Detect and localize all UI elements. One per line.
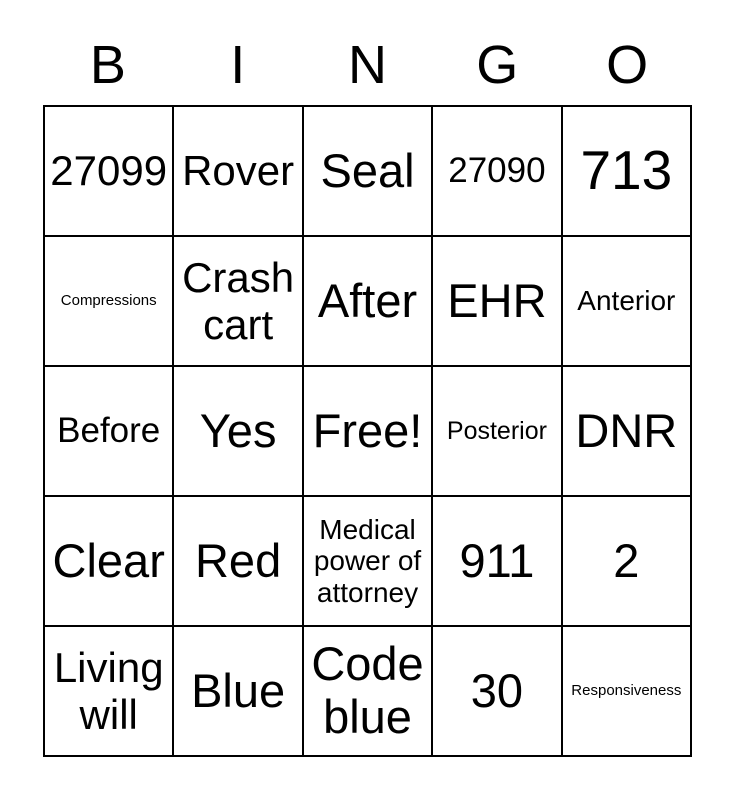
- bingo-cell-label: EHR: [436, 275, 557, 328]
- bingo-header-letter-b: B: [43, 28, 173, 102]
- bingo-cell[interactable]: Yes: [174, 367, 303, 497]
- bingo-cell[interactable]: Blue: [174, 627, 303, 757]
- bingo-cell-label: Clear: [48, 535, 169, 588]
- bingo-cell-label: Yes: [177, 405, 298, 458]
- bingo-cell-label: Free!: [307, 405, 428, 458]
- bingo-cell[interactable]: After: [304, 237, 433, 367]
- bingo-cell[interactable]: 27090: [433, 107, 562, 237]
- bingo-cell-label: 30: [436, 665, 557, 718]
- bingo-cell-label: 911: [436, 535, 557, 588]
- bingo-cell-label: DNR: [566, 405, 687, 458]
- bingo-header-letter-i: I: [173, 28, 303, 102]
- bingo-row: Clear Red Medical power of attorney 911 …: [45, 497, 692, 627]
- bingo-cell[interactable]: 911: [433, 497, 562, 627]
- bingo-cell-label: Red: [177, 535, 298, 588]
- bingo-cell-label: Rover: [177, 147, 298, 194]
- bingo-cell-label: 27090: [436, 151, 557, 190]
- bingo-cell-label: Before: [48, 411, 169, 450]
- bingo-grid: 27099 Rover Seal 27090 713 Compressions …: [43, 105, 692, 757]
- bingo-cell[interactable]: Posterior: [433, 367, 562, 497]
- bingo-cell[interactable]: 27099: [45, 107, 174, 237]
- bingo-cell-free-space[interactable]: Free!: [304, 367, 433, 497]
- bingo-header-row: B I N G O: [43, 28, 692, 102]
- bingo-header-letter-n: N: [303, 28, 433, 102]
- bingo-cell-label: 2: [566, 535, 687, 588]
- bingo-row: 27099 Rover Seal 27090 713: [45, 107, 692, 237]
- bingo-cell-label: Medical power of attorney: [307, 514, 428, 608]
- bingo-cell[interactable]: Before: [45, 367, 174, 497]
- bingo-cell-label: 27099: [48, 147, 169, 194]
- bingo-cell[interactable]: Medical power of attorney: [304, 497, 433, 627]
- bingo-cell[interactable]: 30: [433, 627, 562, 757]
- bingo-cell[interactable]: Seal: [304, 107, 433, 237]
- bingo-cell[interactable]: Crash cart: [174, 237, 303, 367]
- bingo-cell-label: 713: [566, 140, 687, 202]
- bingo-cell[interactable]: Rover: [174, 107, 303, 237]
- bingo-cell[interactable]: Compressions: [45, 237, 174, 367]
- bingo-cell[interactable]: Clear: [45, 497, 174, 627]
- bingo-cell[interactable]: 2: [563, 497, 692, 627]
- bingo-cell[interactable]: DNR: [563, 367, 692, 497]
- bingo-cell[interactable]: Anterior: [563, 237, 692, 367]
- bingo-row: Before Yes Free! Posterior DNR: [45, 367, 692, 497]
- bingo-cell-label: Anterior: [566, 285, 687, 316]
- bingo-cell-label: Crash cart: [177, 254, 298, 348]
- bingo-cell[interactable]: Red: [174, 497, 303, 627]
- bingo-header-letter-o: O: [562, 28, 692, 102]
- bingo-cell-label: Code blue: [307, 638, 428, 743]
- bingo-cell-label: Posterior: [436, 417, 557, 445]
- bingo-cell-label: Blue: [177, 665, 298, 718]
- bingo-cell-label: Seal: [307, 145, 428, 198]
- bingo-cell[interactable]: EHR: [433, 237, 562, 367]
- bingo-cell[interactable]: 713: [563, 107, 692, 237]
- bingo-cell[interactable]: Code blue: [304, 627, 433, 757]
- bingo-cell-label: Compressions: [48, 293, 169, 310]
- bingo-row: Living will Blue Code blue 30 Responsive…: [45, 627, 692, 757]
- bingo-row: Compressions Crash cart After EHR Anteri…: [45, 237, 692, 367]
- bingo-cell[interactable]: Responsiveness: [563, 627, 692, 757]
- bingo-cell-label: Responsiveness: [566, 683, 687, 700]
- bingo-header-letter-g: G: [432, 28, 562, 102]
- bingo-cell-label: Living will: [48, 644, 169, 738]
- bingo-card: B I N G O 27099 Rover Seal 27090 713 Com…: [0, 0, 736, 800]
- bingo-cell[interactable]: Living will: [45, 627, 174, 757]
- bingo-cell-label: After: [307, 275, 428, 328]
